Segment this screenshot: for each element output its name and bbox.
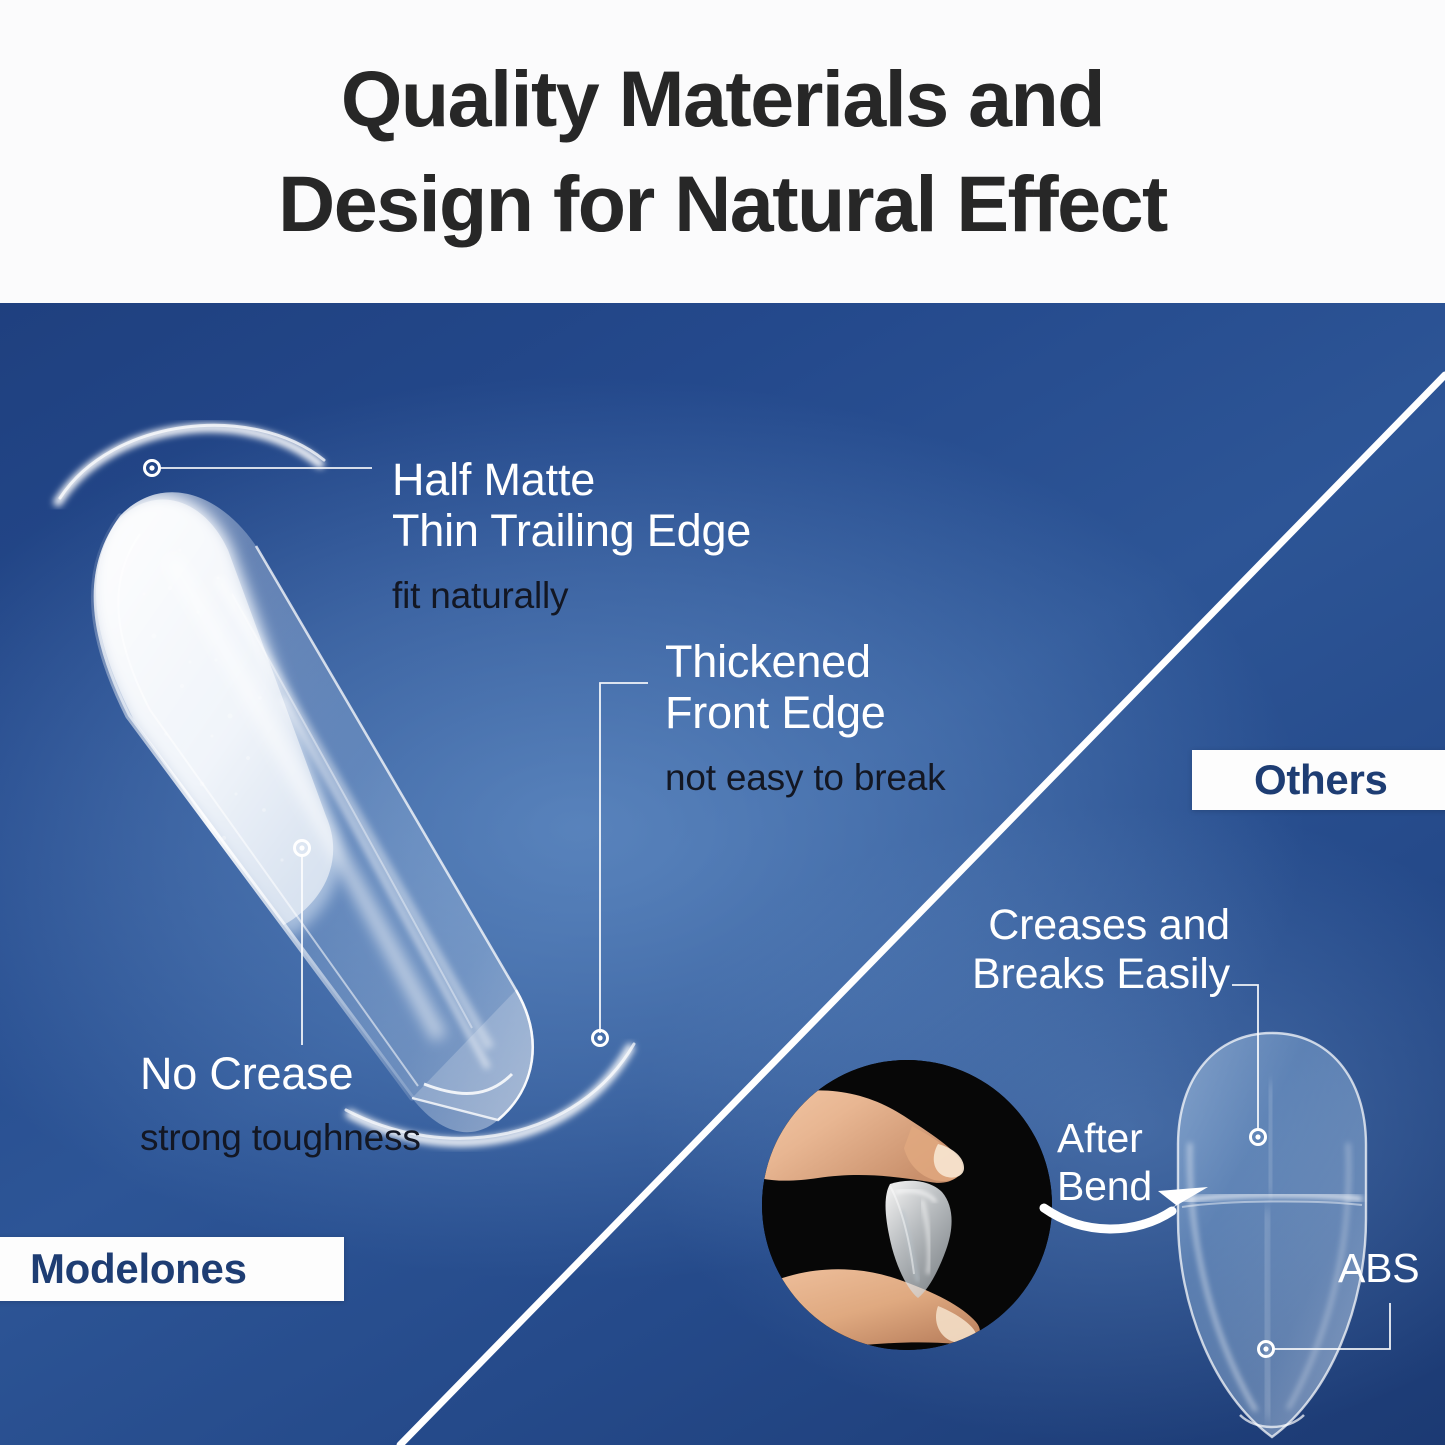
callout-dot-icon <box>145 461 160 476</box>
callout-half-matte-sub: fit naturally <box>392 574 751 618</box>
comparison-stage: Half Matte Thin Trailing Edge fit natura… <box>0 303 1445 1445</box>
callout-thickened-front-edge: Thickened Front Edge not easy to break <box>665 636 945 800</box>
page-title-line-1: Quality Materials and <box>341 47 1104 151</box>
callout-dot-icon <box>1251 1130 1266 1145</box>
brand-badge-others: Others <box>1192 750 1445 810</box>
callout-half-matte: Half Matte Thin Trailing Edge fit natura… <box>392 454 751 618</box>
callout-dot-icon <box>593 1031 608 1046</box>
callout-after-bend-title: After Bend <box>1057 1115 1152 1210</box>
callout-dot-icon <box>1259 1342 1274 1357</box>
brand-badge-others-label: Others <box>1254 756 1388 804</box>
brand-badge-modelones: Modelones <box>0 1237 344 1301</box>
bend-demo-photo <box>762 1060 1052 1350</box>
abs-nail-tip-illustration <box>1160 1023 1385 1445</box>
callout-thickened-title: Thickened Front Edge <box>665 636 945 739</box>
callout-abs-title: ABS <box>1338 1245 1419 1292</box>
callout-thickened-sub: not easy to break <box>665 756 945 800</box>
callout-creases-breaks-easily: Creases and Breaks Easily <box>972 901 1230 998</box>
callout-dot-icon <box>295 841 310 856</box>
page-header: Quality Materials and Design for Natural… <box>0 0 1445 303</box>
callout-no-crease-sub: strong toughness <box>140 1116 421 1160</box>
brand-badge-modelones-label: Modelones <box>30 1245 247 1293</box>
infographic-page: Quality Materials and Design for Natural… <box>0 0 1445 1445</box>
callout-after-bend: After Bend <box>1057 1115 1152 1210</box>
callout-creases-title: Creases and Breaks Easily <box>972 901 1230 998</box>
callout-half-matte-title: Half Matte Thin Trailing Edge <box>392 454 751 557</box>
callout-no-crease-title: No Crease <box>140 1048 421 1099</box>
callout-no-crease: No Crease strong toughness <box>140 1048 421 1161</box>
page-title-line-2: Design for Natural Effect <box>278 152 1167 256</box>
callout-abs: ABS <box>1338 1245 1419 1292</box>
